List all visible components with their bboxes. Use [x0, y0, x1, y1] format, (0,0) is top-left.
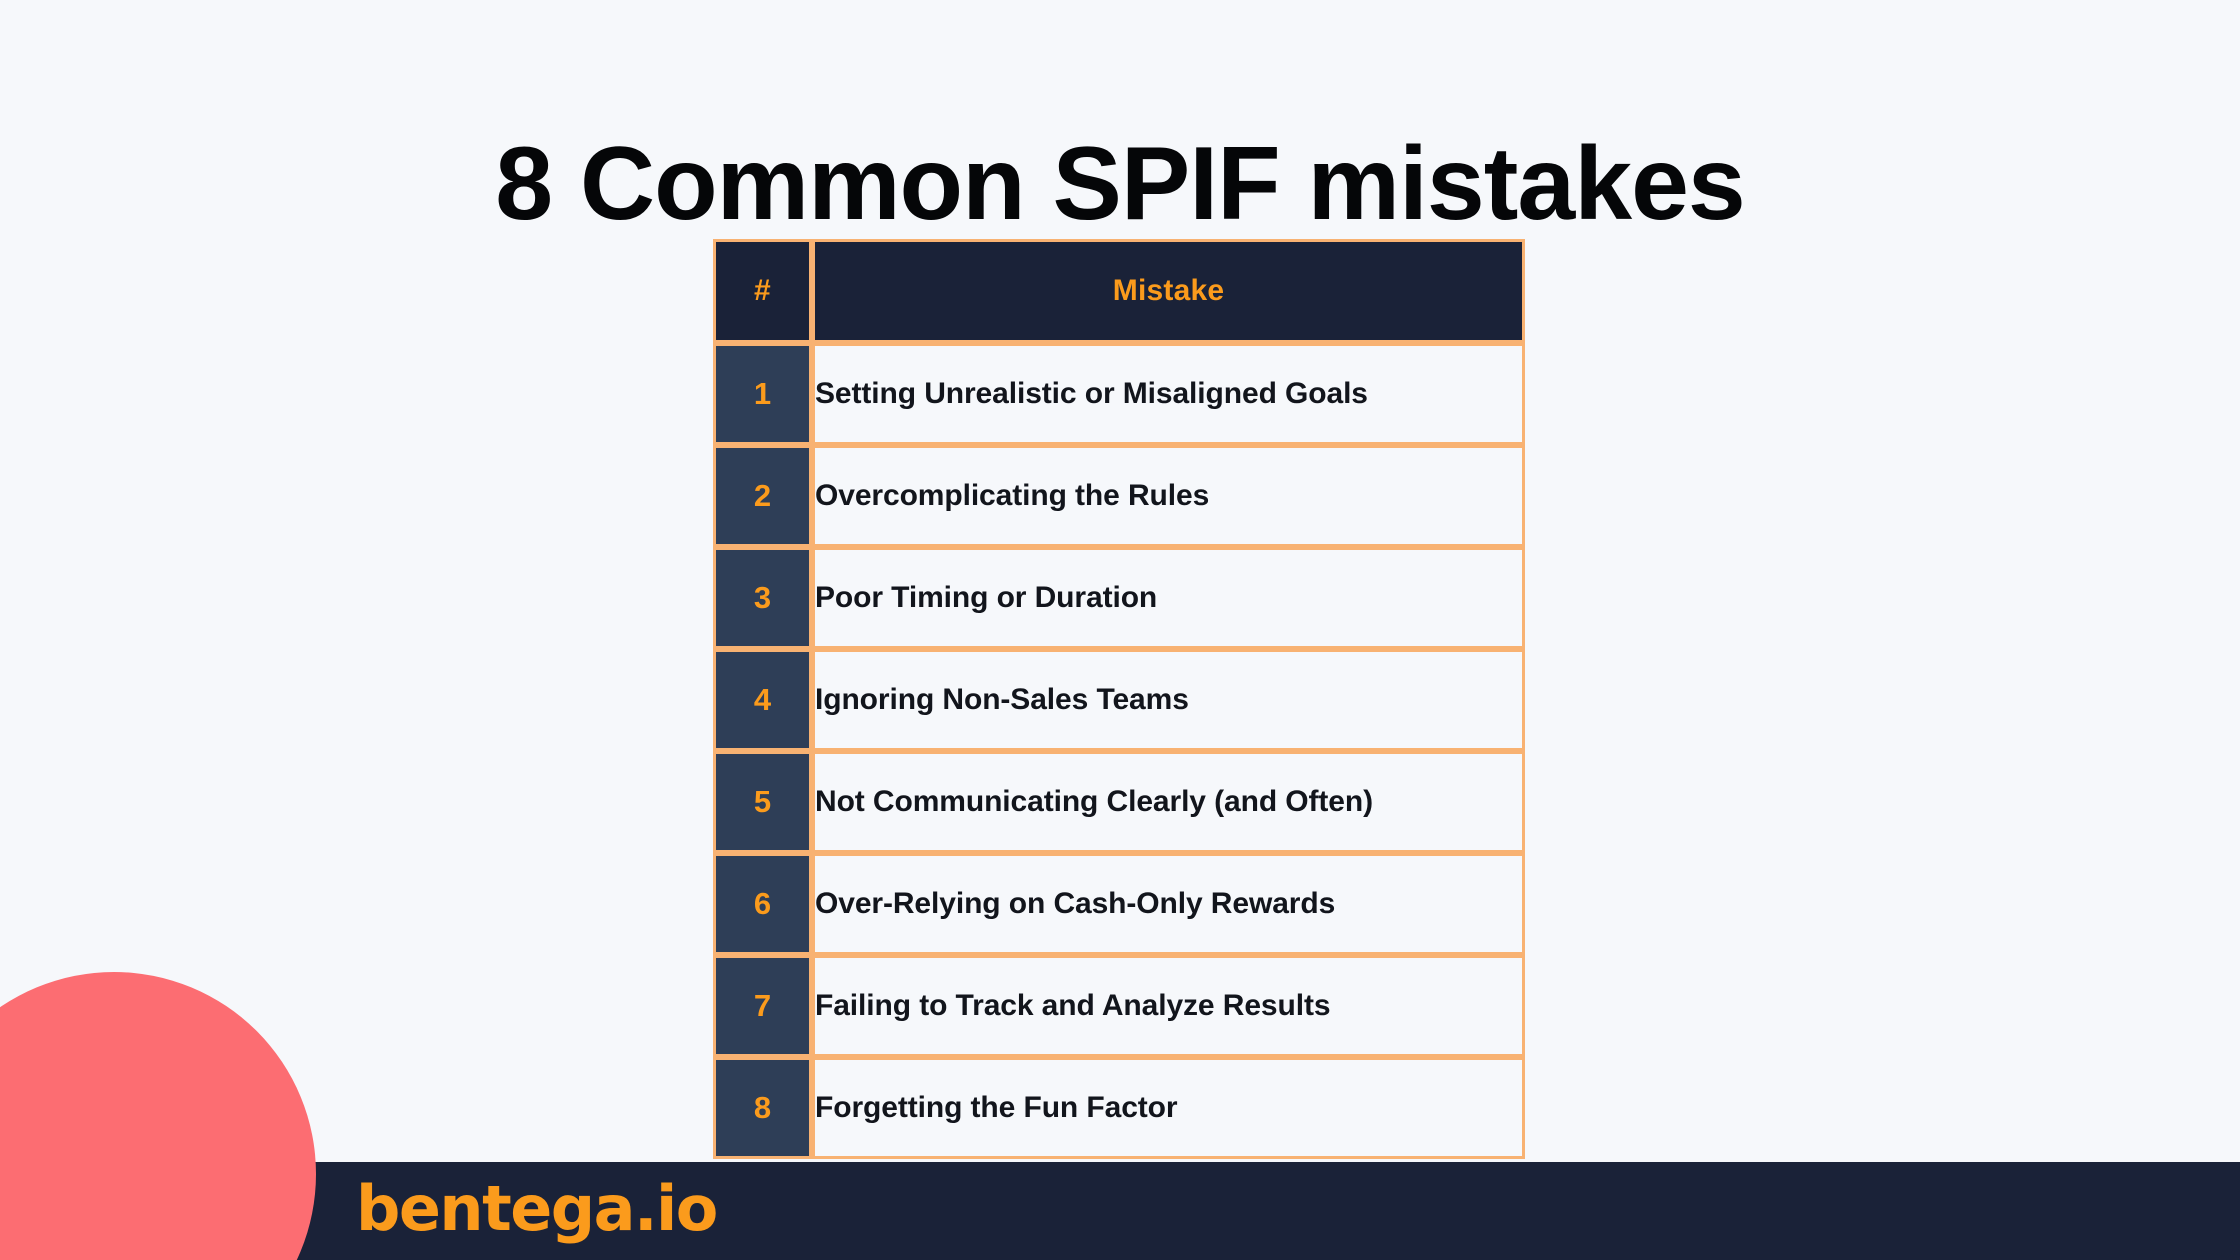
table-row: 1 Setting Unrealistic or Misaligned Goal… — [713, 343, 1525, 445]
table-row: 4 Ignoring Non-Sales Teams — [713, 649, 1525, 751]
page-title: 8 Common SPIF mistakes — [0, 128, 2240, 240]
row-mistake-cell: Forgetting the Fun Factor — [812, 1057, 1525, 1159]
row-number-cell: 2 — [713, 445, 812, 547]
row-number-cell: 7 — [713, 955, 812, 1057]
mistakes-table: # Mistake 1 Setting Unrealistic or Misal… — [713, 239, 1525, 1159]
row-mistake-cell: Failing to Track and Analyze Results — [812, 955, 1525, 1057]
row-mistake-cell: Not Communicating Clearly (and Often) — [812, 751, 1525, 853]
row-number-cell: 8 — [713, 1057, 812, 1159]
table-header-row: # Mistake — [713, 239, 1525, 343]
row-mistake-cell: Poor Timing or Duration — [812, 547, 1525, 649]
column-header-number: # — [713, 239, 812, 343]
table-row: 8 Forgetting the Fun Factor — [713, 1057, 1525, 1159]
column-header-mistake: Mistake — [812, 239, 1525, 343]
row-mistake-cell: Over-Relying on Cash-Only Rewards — [812, 853, 1525, 955]
row-number-cell: 6 — [713, 853, 812, 955]
row-mistake-cell: Setting Unrealistic or Misaligned Goals — [812, 343, 1525, 445]
slide-canvas: 8 Common SPIF mistakes # Mistake 1 Setti… — [0, 0, 2240, 1260]
row-mistake-cell: Ignoring Non-Sales Teams — [812, 649, 1525, 751]
mistakes-table-container: # Mistake 1 Setting Unrealistic or Misal… — [713, 239, 1525, 1159]
row-number-cell: 3 — [713, 547, 812, 649]
row-number-cell: 5 — [713, 751, 812, 853]
row-number-cell: 4 — [713, 649, 812, 751]
table-row: 5 Not Communicating Clearly (and Often) — [713, 751, 1525, 853]
table-row: 2 Overcomplicating the Rules — [713, 445, 1525, 547]
coral-circle-decoration — [0, 972, 316, 1260]
table-row: 7 Failing to Track and Analyze Results — [713, 955, 1525, 1057]
table-row: 6 Over-Relying on Cash-Only Rewards — [713, 853, 1525, 955]
footer-bar — [0, 1162, 2240, 1260]
row-mistake-cell: Overcomplicating the Rules — [812, 445, 1525, 547]
brand-logo: bentega.io — [356, 1178, 717, 1240]
row-number-cell: 1 — [713, 343, 812, 445]
table-head: # Mistake — [713, 239, 1525, 343]
table-body: 1 Setting Unrealistic or Misaligned Goal… — [713, 343, 1525, 1159]
table-row: 3 Poor Timing or Duration — [713, 547, 1525, 649]
